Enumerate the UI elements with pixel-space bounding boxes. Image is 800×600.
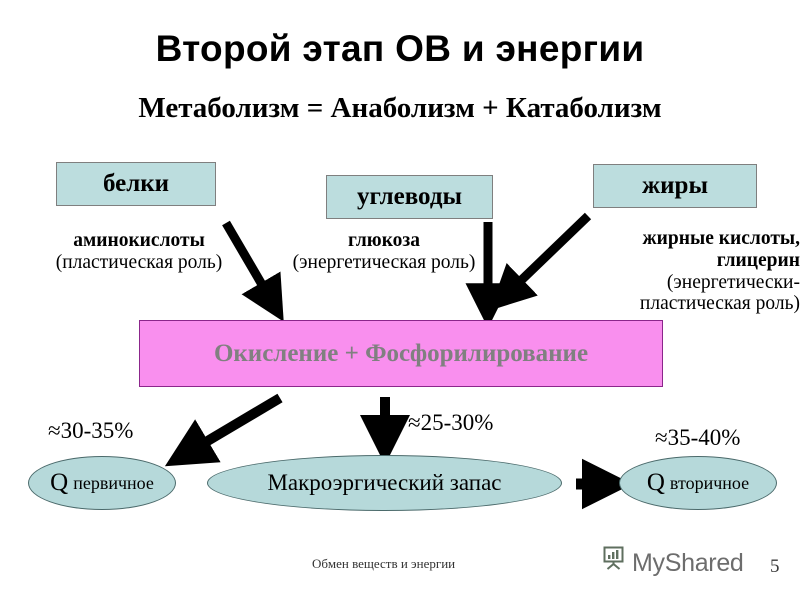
myshared-watermark: MyShared (601, 545, 744, 576)
node-carbohydrates: углеводы (326, 175, 493, 219)
label-fatty-acids: жирные кислоты, глицерин (энергетически-… (560, 228, 800, 315)
node-q-secondary-symbol: Q (647, 469, 665, 497)
node-macroergic-storage: Макроэргический запас (207, 455, 562, 511)
label-fatty-acids-name-line1: жирные кислоты, (560, 228, 800, 250)
label-amino-acids-name: аминокислоты (20, 230, 258, 252)
label-amino-acids-role: (пластическая роль) (20, 252, 258, 274)
node-q-primary: Q первичное (28, 456, 176, 510)
myshared-watermark-text: MyShared (632, 551, 744, 576)
label-amino-acids: аминокислоты (пластическая роль) (20, 230, 258, 274)
node-q-secondary-name: вторичное (665, 473, 749, 494)
node-q-primary-name: первичное (68, 473, 154, 494)
label-glucose: глюкоза (энергетическая роль) (248, 230, 520, 274)
node-proteins-label: белки (103, 170, 169, 198)
percent-storage: ≈25-30% (408, 410, 493, 436)
node-oxidation-phosphorylation: Окисление + Фосфорилирование (139, 320, 663, 387)
label-fatty-acids-name-line2: глицерин (560, 250, 800, 272)
label-glucose-role: (энергетическая роль) (248, 252, 520, 274)
label-fatty-acids-role: (энергетически-пластическая роль) (560, 272, 800, 316)
node-q-secondary: Q вторичное (619, 456, 777, 510)
page-title: Второй этап ОВ и энергии (0, 28, 800, 70)
node-q-primary-symbol: Q (50, 469, 68, 497)
node-macroergic-storage-label: Макроэргический запас (267, 470, 501, 496)
node-fats: жиры (593, 164, 757, 208)
node-fats-label: жиры (642, 172, 708, 200)
percent-q-primary: ≈30-35% (48, 418, 133, 444)
footer-caption: Обмен веществ и энергии (312, 556, 455, 572)
node-oxidation-phosphorylation-label: Окисление + Фосфорилирование (214, 340, 588, 368)
slide-subtitle: Метаболизм = Анаболизм + Катаболизм (0, 92, 800, 125)
slide-canvas: Второй этап ОВ и энергии Метаболизм = Ан… (0, 0, 800, 600)
node-carbohydrates-label: углеводы (357, 183, 462, 211)
presentation-board-icon (601, 545, 627, 576)
page-number: 5 (770, 556, 780, 578)
percent-q-secondary: ≈35-40% (655, 425, 740, 451)
arrow-line-q-primary (189, 398, 280, 452)
label-glucose-name: глюкоза (248, 230, 520, 252)
node-proteins: белки (56, 162, 216, 206)
